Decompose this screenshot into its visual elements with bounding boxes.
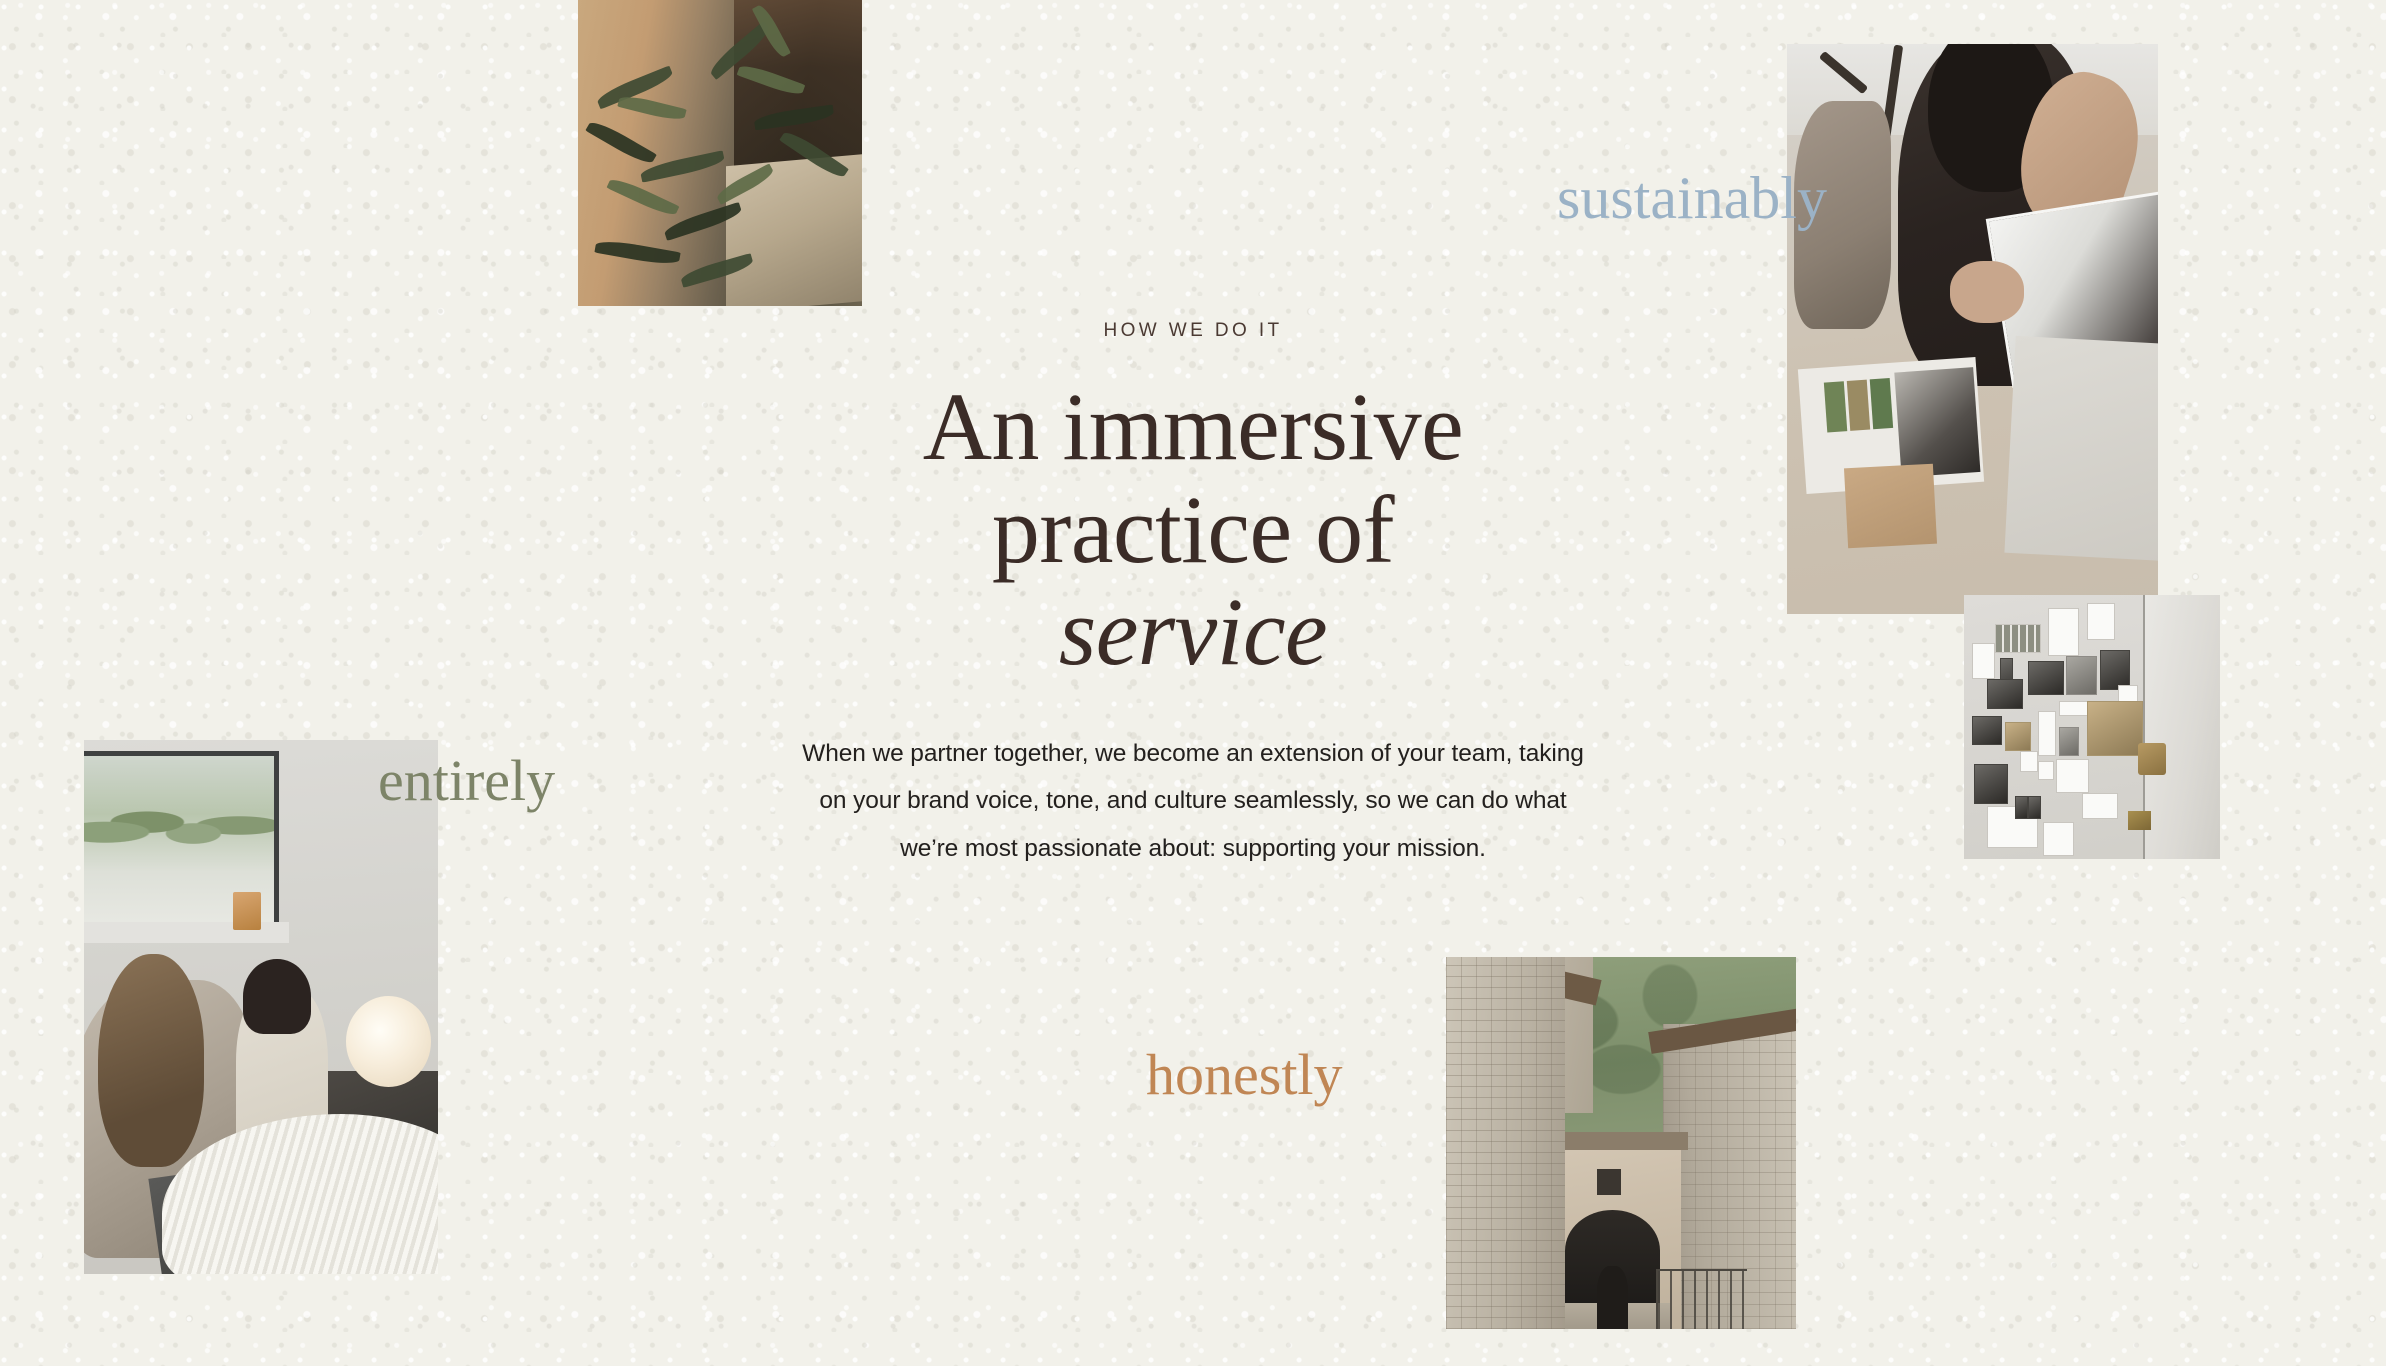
mother-hair bbox=[98, 954, 204, 1168]
photo-olive-plant bbox=[578, 0, 862, 306]
walking-figure bbox=[1597, 1266, 1629, 1329]
magazine-thumb bbox=[1870, 378, 1893, 429]
amber-candle bbox=[233, 892, 261, 929]
headline-line-1: An immersive bbox=[923, 373, 1464, 480]
pinned-note bbox=[2020, 751, 2038, 772]
metal-railing bbox=[1656, 1269, 1747, 1329]
pinned-landscape-photo bbox=[2087, 701, 2143, 756]
magazine-bw-photo bbox=[1894, 367, 1980, 478]
pinned-photo bbox=[1972, 716, 2003, 745]
pinned-contact-sheet bbox=[1995, 624, 2041, 653]
pinned-polaroid bbox=[2015, 796, 2028, 820]
magazine-thumb bbox=[1824, 381, 1847, 432]
pinned-photo bbox=[1974, 764, 2007, 804]
headline-emphasis: service bbox=[783, 581, 1603, 684]
window-trees bbox=[84, 792, 274, 858]
white-door bbox=[2143, 595, 2220, 859]
photo-village-archway bbox=[1446, 957, 1796, 1329]
photo-olive-plant-content bbox=[578, 0, 862, 306]
magazine-thumb bbox=[1847, 380, 1870, 431]
photo-mother-child-content bbox=[84, 740, 438, 1274]
section-eyebrow: HOW WE DO IT bbox=[783, 320, 1603, 342]
decorative-word-honestly: honestly bbox=[1146, 1046, 1343, 1104]
photo-moodboard-content bbox=[1964, 595, 2220, 859]
photo-studio-review bbox=[1787, 44, 2158, 614]
photo-moodboard bbox=[1964, 595, 2220, 859]
archway-window bbox=[1597, 1169, 1622, 1195]
pinned-photo bbox=[2028, 661, 2064, 695]
decorative-word-entirely: entirely bbox=[378, 752, 555, 810]
pinned-note bbox=[1972, 643, 1995, 680]
pinned-polaroid bbox=[2028, 796, 2041, 820]
decorative-word-sustainably: sustainably bbox=[1557, 168, 1827, 228]
child-hair bbox=[243, 959, 310, 1034]
photo-studio-review-content bbox=[1787, 44, 2158, 614]
framed-card bbox=[2043, 822, 2074, 856]
photo-village-content bbox=[1446, 957, 1796, 1329]
brass-plate bbox=[2128, 811, 2151, 829]
pinned-card bbox=[2082, 793, 2118, 819]
section-content: HOW WE DO IT An immersive practice of se… bbox=[783, 320, 1603, 872]
photo-mother-child bbox=[84, 740, 438, 1274]
kraft-envelope bbox=[1844, 464, 1937, 548]
pinned-photo bbox=[2059, 727, 2079, 756]
pinned-handwritten-note bbox=[2056, 759, 2089, 793]
pinned-photo bbox=[2066, 656, 2097, 696]
pinned-note bbox=[2048, 608, 2079, 656]
person-hand bbox=[1950, 261, 2024, 324]
pinned-note bbox=[2038, 761, 2053, 779]
section-body-copy: When we partner together, we become an e… bbox=[798, 730, 1588, 872]
stone-wall-left bbox=[1446, 957, 1565, 1329]
pinned-note bbox=[2038, 711, 2056, 756]
brass-door-lock bbox=[2138, 743, 2166, 775]
pinned-photo bbox=[1987, 679, 2023, 708]
headline-line-2: practice of bbox=[992, 476, 1394, 583]
paper-sheet bbox=[2004, 336, 2158, 561]
pinned-note bbox=[2087, 603, 2115, 640]
page-title: An immersive practice of service bbox=[783, 376, 1603, 684]
round-glowing-lamp bbox=[346, 996, 431, 1087]
pinned-photo bbox=[2005, 722, 2031, 751]
